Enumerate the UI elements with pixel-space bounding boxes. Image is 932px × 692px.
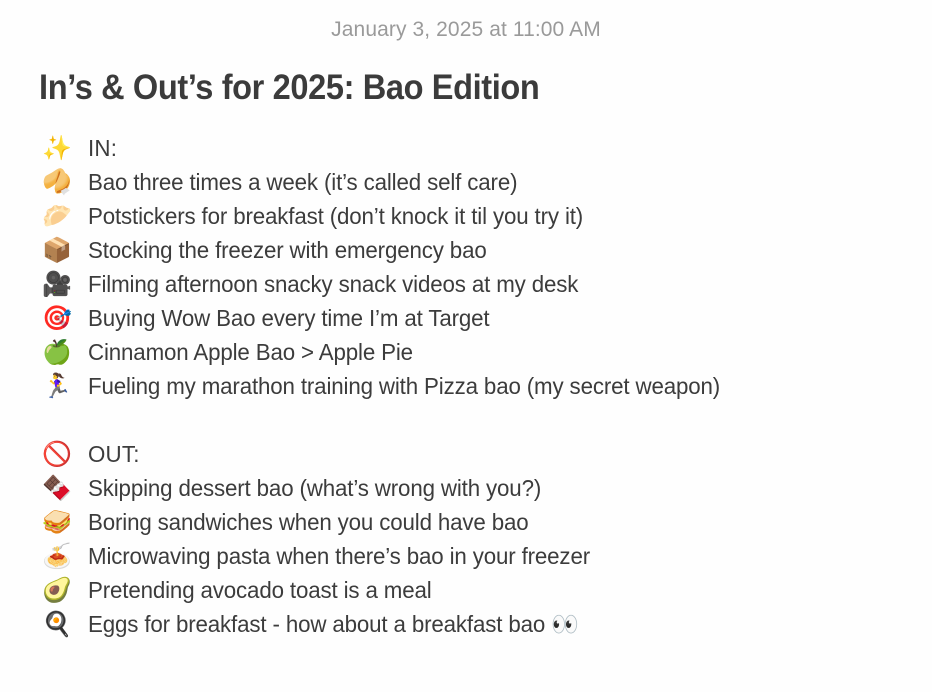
note-list-item: 🍏Cinnamon Apple Bao > Apple Pie [42,335,932,369]
note-item-text: Bao three times a week (it’s called self… [88,165,517,199]
sparkles-icon: ✨ [42,131,88,165]
note-list-item: 🎥Filming afternoon snacky snack videos a… [42,267,932,301]
note-list-item: 🚫OUT: [42,437,932,471]
note-timestamp: January 3, 2025 at 11:00 AM [0,0,932,40]
steamed-bun-icon: 🥠 [42,165,88,199]
spaghetti-icon: 🍝 [42,539,88,573]
note-page: January 3, 2025 at 11:00 AM In’s & Out’s… [0,0,932,692]
bullseye-target-icon: 🎯 [42,301,88,335]
green-apple-icon: 🍏 [42,335,88,369]
woman-running-icon: 🏃‍♀️ [42,369,88,403]
note-item-text: Boring sandwiches when you could have ba… [88,505,529,539]
note-item-text: Pretending avocado toast is a meal [88,573,432,607]
note-list-item: 🍳Eggs for breakfast - how about a breakf… [42,607,932,641]
note-list-item: 🍫Skipping dessert bao (what’s wrong with… [42,471,932,505]
dumpling-icon: 🥟 [42,199,88,233]
note-item-text: Skipping dessert bao (what’s wrong with … [88,471,541,505]
note-list-item: ✨IN: [42,131,932,165]
note-list-item: 🥪Boring sandwiches when you could have b… [42,505,932,539]
note-item-text: Potstickers for breakfast (don’t knock i… [88,199,583,233]
note-item-text: Cinnamon Apple Bao > Apple Pie [88,335,413,369]
note-blank-line [42,403,932,437]
chocolate-bar-icon: 🍫 [42,471,88,505]
note-body: ✨IN:🥠Bao three times a week (it’s called… [0,108,932,641]
note-list-item: 🥟Potstickers for breakfast (don’t knock … [42,199,932,233]
note-item-text: Filming afternoon snacky snack videos at… [88,267,578,301]
sandwich-icon: 🥪 [42,505,88,539]
note-section-heading: OUT: [88,437,140,471]
note-item-text: Stocking the freezer with emergency bao [88,233,487,267]
note-list-item: 📦Stocking the freezer with emergency bao [42,233,932,267]
prohibited-icon: 🚫 [42,437,88,471]
note-item-text: Microwaving pasta when there’s bao in yo… [88,539,590,573]
avocado-icon: 🥑 [42,573,88,607]
note-list-item: 🎯Buying Wow Bao every time I’m at Target [42,301,932,335]
movie-camera-icon: 🎥 [42,267,88,301]
note-list-item: 🥠Bao three times a week (it’s called sel… [42,165,932,199]
note-item-text: Buying Wow Bao every time I’m at Target [88,301,489,335]
note-title: In’s & Out’s for 2025: Bao Edition [0,40,867,108]
note-item-text: Eggs for breakfast - how about a breakfa… [88,607,579,641]
note-list-item: 🥑Pretending avocado toast is a meal [42,573,932,607]
note-list-item: 🏃‍♀️Fueling my marathon training with Pi… [42,369,932,403]
package-box-icon: 📦 [42,233,88,267]
note-section-heading: IN: [88,131,117,165]
fried-egg-icon: 🍳 [42,607,88,641]
note-list-item: 🍝Microwaving pasta when there’s bao in y… [42,539,932,573]
note-item-text: Fueling my marathon training with Pizza … [88,369,720,403]
